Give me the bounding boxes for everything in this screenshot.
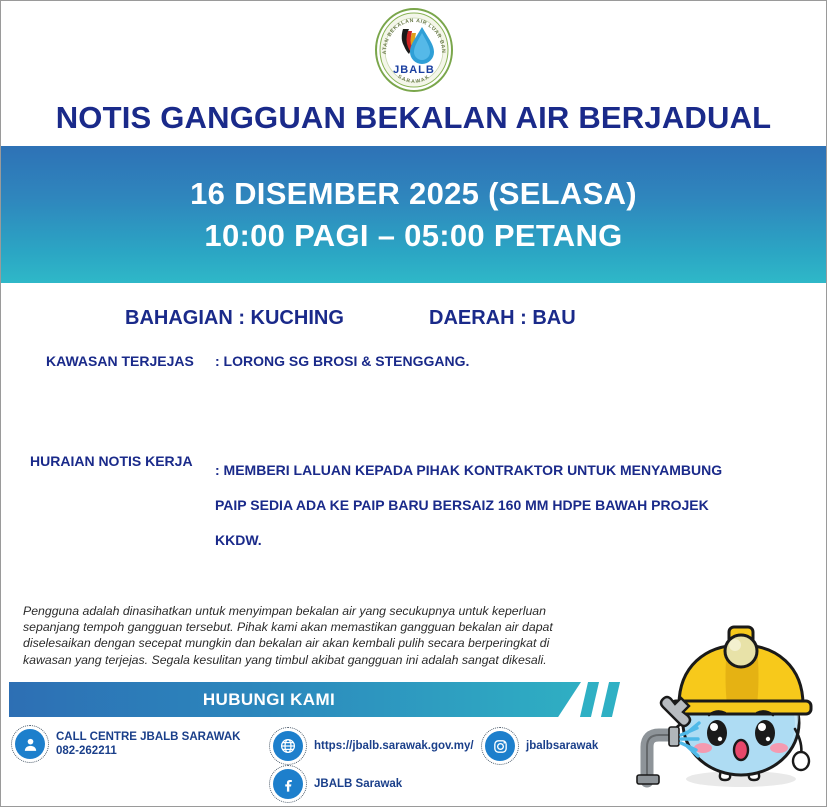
call-centre-label: CALL CENTRE JBALB SARAWAK <box>56 731 240 743</box>
work-description-line-1: : MEMBERI LALUAN KEPADA PIHAK KONTRAKTOR… <box>215 453 795 488</box>
instagram-icon <box>485 731 515 761</box>
affected-area-label: KAWASAN TERJEJAS <box>46 353 194 369</box>
icon-ring <box>11 725 49 763</box>
icon-ring <box>481 727 519 765</box>
call-centre-number: 082-262211 <box>56 744 240 758</box>
work-description-line-2: PAIP SEDIA ADA KE PAIP BARU BERSAIZ 160 … <box>215 488 795 523</box>
website-url: https://jbalb.sarawak.gov.my/ <box>314 739 474 753</box>
outage-time: 10:00 PAGI – 05:00 PETANG <box>204 215 622 257</box>
globe-icon <box>273 731 303 761</box>
call-centre-text: CALL CENTRE JBALB SARAWAK 082-262211 <box>56 730 240 758</box>
contact-call-centre[interactable]: CALL CENTRE JBALB SARAWAK 082-262211 <box>15 729 240 759</box>
instagram-handle: jbalbsarawak <box>526 739 598 753</box>
decorative-slash-2 <box>601 682 620 717</box>
work-description-label: HURAIAN NOTIS KERJA <box>30 453 193 469</box>
date-banner: 16 DISEMBER 2025 (SELASA) 10:00 PAGI – 0… <box>1 146 826 283</box>
jbalb-logo: JABATAN BEKALAN AIR LUAR BANDAR JBALB SA… <box>367 7 461 93</box>
header: JABATAN BEKALAN AIR LUAR BANDAR JBALB SA… <box>1 1 826 146</box>
svg-text:JBALB: JBALB <box>393 64 435 76</box>
contact-website[interactable]: https://jbalb.sarawak.gov.my/ <box>273 731 474 761</box>
notice-page: JABATAN BEKALAN AIR LUAR BANDAR JBALB SA… <box>0 0 827 807</box>
bahagian-value: BAHAGIAN : KUCHING <box>125 307 344 330</box>
work-description-value: : MEMBERI LALUAN KEPADA PIHAK KONTRAKTOR… <box>215 453 795 558</box>
contact-bar-container: HUBUNGI KAMI <box>9 682 669 717</box>
page-title: NOTIS GANGGUAN BEKALAN AIR BERJADUAL <box>1 100 826 136</box>
icon-ring <box>269 765 307 803</box>
water-droplet-mascot <box>629 593 825 801</box>
icon-ring <box>269 727 307 765</box>
details-section: BAHAGIAN : KUCHING DAERAH : BAU KAWASAN … <box>1 283 826 583</box>
contact-bar-title: HUBUNGI KAMI <box>9 690 529 710</box>
contact-instagram[interactable]: jbalbsarawak <box>485 731 598 761</box>
work-description-line-3: KKDW. <box>215 523 795 558</box>
affected-area-value: : LORONG SG BROSI & STENGGANG. <box>215 353 469 369</box>
person-icon <box>15 729 45 759</box>
facebook-icon <box>273 769 303 799</box>
facebook-handle: JBALB Sarawak <box>314 777 402 791</box>
disclaimer-text: Pengguna adalah dinasihatkan untuk menyi… <box>23 603 601 668</box>
decorative-slash-1 <box>580 682 599 717</box>
contact-facebook[interactable]: JBALB Sarawak <box>273 769 402 799</box>
daerah-value: DAERAH : BAU <box>429 307 576 330</box>
outage-date: 16 DISEMBER 2025 (SELASA) <box>190 173 637 215</box>
